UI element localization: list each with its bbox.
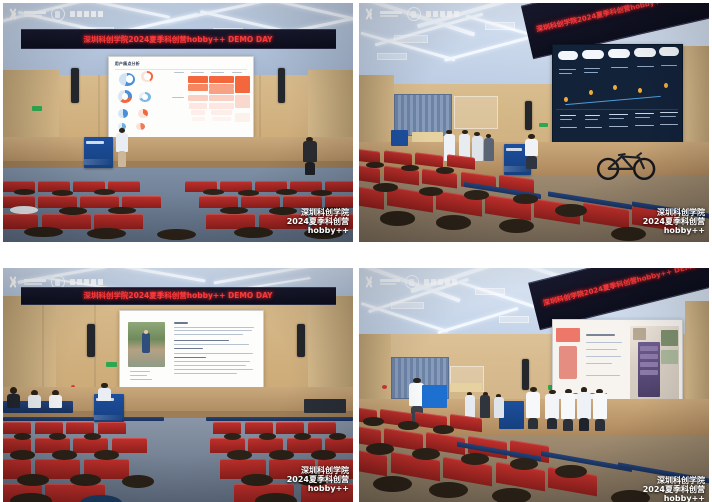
panel-top-left[interactable]: 深圳科创学院2024夏季科创营hobby++ DEMO DAY 用户痛点分析 (0, 0, 356, 251)
watermark-top-right: 深圳科创学院 2024夏季科创营 hobby++ (643, 209, 705, 236)
watermark-top-left: 深圳科创学院 2024夏季科创营 hobby++ (287, 209, 349, 236)
presenter (115, 128, 129, 166)
photo-top-left: 深圳科创学院2024夏季科创营hobby++ DEMO DAY 用户痛点分析 (3, 3, 353, 242)
exit-sign-icon (539, 123, 548, 128)
photo-bottom-right: 深圳科创学院2024夏季科创营hobby++ DEMO DAY (359, 268, 709, 502)
exit-sign-icon (32, 106, 43, 111)
camera-operator (302, 137, 318, 175)
panel-bottom-right[interactable]: 深圳科创学院2024夏季科创营hobby++ DEMO DAY (356, 251, 712, 502)
shenzhen-institute-logo-icon (8, 276, 19, 288)
venue-logos (8, 7, 103, 21)
university-wordmark (424, 279, 457, 285)
shenzhen-institute-logo-icon (364, 8, 375, 20)
projection-screen-top-left: 用户痛点分析 (108, 56, 254, 138)
panel-top-right[interactable]: 深圳科创学院2024夏季科创营hobby++ DEMO DAY (356, 0, 712, 251)
watermark-bottom-left: 深圳科创学院 2024夏季科创营 hobby++ (287, 467, 349, 494)
panel-bottom-left[interactable]: 深圳科创学院2024夏季科创营hobby++ DEMO DAY (0, 251, 356, 502)
led-banner-bottom-left: 深圳科创学院2024夏季科创营hobby++ DEMO DAY (21, 287, 336, 305)
photo-top-right: 深圳科创学院2024夏季科创营hobby++ DEMO DAY (359, 3, 709, 242)
logo-wordmark (24, 279, 46, 285)
shenzhen-institute-logo-icon (8, 8, 19, 20)
venue-logos (364, 7, 459, 21)
venue-logos (364, 275, 457, 289)
led-wall-top-right (552, 44, 684, 146)
projection-screen-bottom-left (119, 310, 265, 389)
photo-grid: 深圳科创学院2024夏季科创营hobby++ DEMO DAY 用户痛点分析 (0, 0, 712, 502)
led-banner-top-left: 深圳科创学院2024夏季科创营hobby++ DEMO DAY (21, 29, 336, 49)
photo-bottom-left: 深圳科创学院2024夏季科创营hobby++ DEMO DAY (3, 268, 353, 502)
exit-sign-icon (106, 362, 117, 367)
presenter (98, 383, 112, 402)
logo-wordmark (380, 11, 402, 17)
university-seal-logo-icon (407, 7, 421, 21)
university-seal-logo-icon (51, 7, 65, 21)
logo-wordmark (380, 279, 400, 285)
university-wordmark (70, 279, 103, 285)
logo-wordmark (24, 11, 46, 17)
university-wordmark (426, 11, 459, 17)
university-wordmark (70, 11, 103, 17)
university-seal-logo-icon (405, 275, 419, 289)
shenzhen-institute-logo-icon (364, 276, 375, 288)
watermark-bottom-right: 深圳科创学院 2024夏季科创营 hobby++ (643, 477, 705, 502)
podium-top-left (84, 137, 114, 168)
